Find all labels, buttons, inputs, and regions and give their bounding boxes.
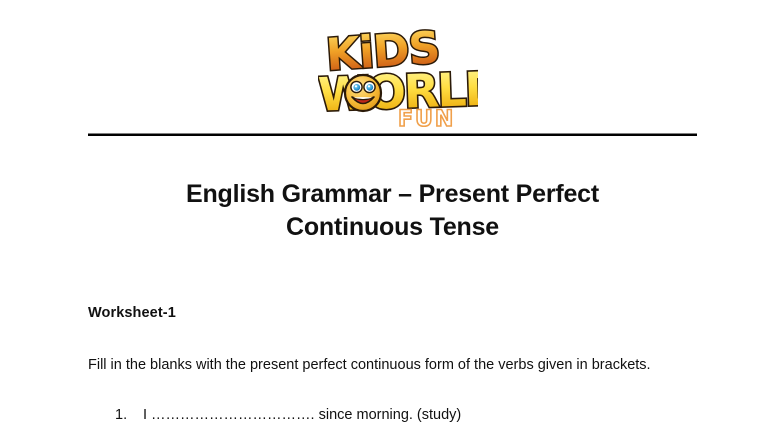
- page-title-line-1: English Grammar – Present Perfect: [88, 178, 697, 211]
- worksheet-instruction: Fill in the blanks with the present perf…: [88, 355, 694, 376]
- page-title: English Grammar – Present Perfect Contin…: [88, 178, 697, 244]
- logo-smiley-icon: [345, 75, 381, 111]
- svg-text:FUN: FUN: [398, 107, 455, 130]
- question-item: 1. I ……………………………. since morning. (study): [88, 404, 694, 426]
- header-divider: [88, 133, 697, 136]
- worksheet-heading: Worksheet-1: [88, 304, 176, 322]
- question-list: 1. I ……………………………. since morning. (study): [88, 404, 694, 426]
- logo-word-fun: FUN: [398, 107, 455, 130]
- page-title-line-2: Continuous Tense: [88, 211, 697, 244]
- logo-artwork: KiDS WORLD FUN: [318, 22, 478, 130]
- question-text: I ……………………………. since morning. (study): [143, 407, 461, 423]
- kids-world-fun-logo: KiDS WORLD FUN: [318, 22, 478, 130]
- question-number: 1.: [115, 404, 137, 426]
